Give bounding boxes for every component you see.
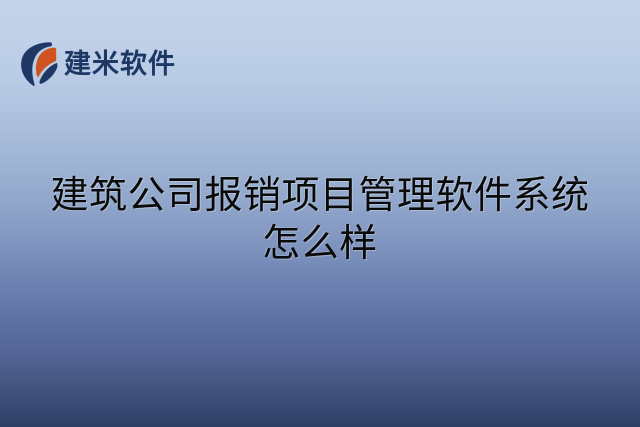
jianmi-leaf-mark-icon <box>20 41 58 87</box>
promo-banner: 建米软件 建筑公司报销项目管理软件系统 怎么样 <box>0 0 640 427</box>
headline-line-2: 怎么样 <box>14 220 626 268</box>
headline-block: 建筑公司报销项目管理软件系统 怎么样 <box>0 172 640 268</box>
brand-logo: 建米软件 <box>20 40 176 88</box>
headline-line-1: 建筑公司报销项目管理软件系统 <box>14 172 626 220</box>
brand-name-text: 建米软件 <box>64 51 176 78</box>
